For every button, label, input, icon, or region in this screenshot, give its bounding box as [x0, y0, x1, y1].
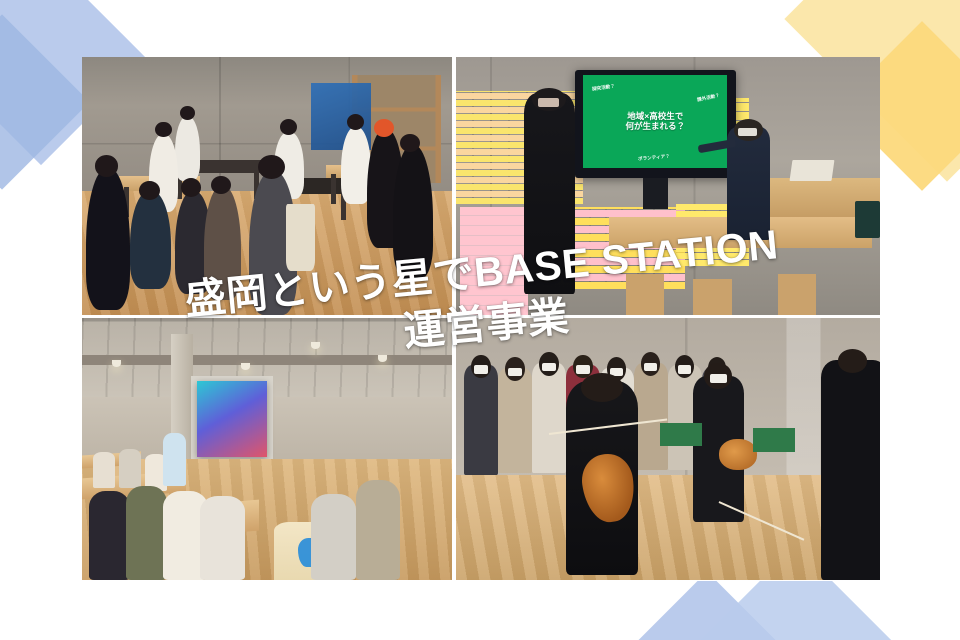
- photo-concert: [456, 318, 880, 580]
- person-foreground: [356, 480, 400, 580]
- ceiling-lamp: [378, 355, 387, 362]
- person-foreground: [86, 168, 130, 310]
- face-mask: [474, 365, 488, 373]
- person-seated: [119, 449, 141, 488]
- face-mask: [710, 374, 727, 383]
- stool: [778, 274, 816, 315]
- person-foreground: [126, 486, 167, 580]
- wood-floor: [456, 475, 880, 580]
- music-stand: [660, 423, 702, 447]
- face-mask: [576, 365, 590, 373]
- face-mask: [644, 363, 658, 371]
- screen-note-top-left: 探究活動？: [592, 84, 616, 93]
- person-foreground: [200, 496, 244, 580]
- ceiling-lamp: [241, 363, 250, 370]
- face-mask: [542, 363, 556, 371]
- audience-member: [498, 368, 532, 473]
- photo-collage: 探究活動？ 課外活動？ 地域×高校生で 何が生まれる？ ボランティア？: [82, 57, 880, 581]
- stool: [626, 274, 664, 315]
- ceiling-lamp: [112, 360, 121, 367]
- photo-coworking-workshop: [82, 318, 452, 580]
- person-head: [181, 178, 201, 197]
- face-mask: [738, 128, 757, 136]
- stool: [693, 279, 731, 315]
- ceiling-beam: [82, 355, 452, 365]
- ceiling-lamp: [311, 342, 320, 349]
- person-head: [211, 176, 231, 194]
- person-head: [347, 114, 364, 130]
- projection-screen: [197, 381, 267, 457]
- sticky-notes-pink-left: [460, 207, 528, 315]
- speaker-box: [855, 201, 880, 237]
- person-head: [581, 373, 623, 402]
- person-head: [95, 155, 119, 177]
- screen-main-line1: 地域×高校生で: [626, 111, 686, 122]
- display-stand: [643, 178, 668, 209]
- collage-row-top: 探究活動？ 課外活動？ 地域×高校生で 何が生まれる？ ボランティア？: [82, 57, 880, 315]
- photo-presentation: 探究活動？ 課外活動？ 地域×高校生で 何が生まれる？ ボランティア？: [456, 57, 880, 315]
- audience-member: [532, 363, 566, 473]
- screen-note-top-right: 課外活動？: [697, 93, 721, 104]
- person-foreground: [89, 491, 130, 580]
- screen-note-bottom: ボランティア？: [638, 153, 670, 162]
- person-standing: [163, 433, 185, 485]
- blue-diamond-top-left-small: [0, 14, 90, 189]
- photo-workshop-tables: [82, 57, 452, 315]
- presentation-screen: 探究活動？ 課外活動？ 地域×高校生で 何が生まれる？ ボランティア？: [583, 75, 727, 168]
- audience-member: [634, 363, 668, 470]
- person-foreground: [204, 186, 241, 300]
- audience-member: [464, 365, 498, 475]
- face-mask: [678, 365, 692, 373]
- slide-canvas: 探究活動？ 課外活動？ 地域×高校生で 何が生まれる？ ボランティア？: [0, 0, 960, 640]
- collage-row-bottom: [82, 318, 880, 580]
- laptop: [790, 160, 835, 181]
- person-foreground-right: [821, 360, 880, 580]
- face-mask: [508, 368, 522, 376]
- person-head: [139, 181, 160, 200]
- tote-bag: [286, 204, 316, 271]
- person-foreground: [311, 494, 355, 580]
- violin: [719, 439, 757, 470]
- face-mask: [538, 98, 559, 107]
- person-head: [838, 349, 868, 373]
- person-presenter-left: [524, 93, 575, 294]
- screen-main-line2: 何が生まれる？: [626, 121, 686, 132]
- blue-diamond-bottom-small: [624, 572, 791, 640]
- person: [175, 116, 201, 181]
- person-foreground: [130, 191, 171, 289]
- music-stand: [753, 428, 795, 452]
- person-seated: [93, 452, 115, 489]
